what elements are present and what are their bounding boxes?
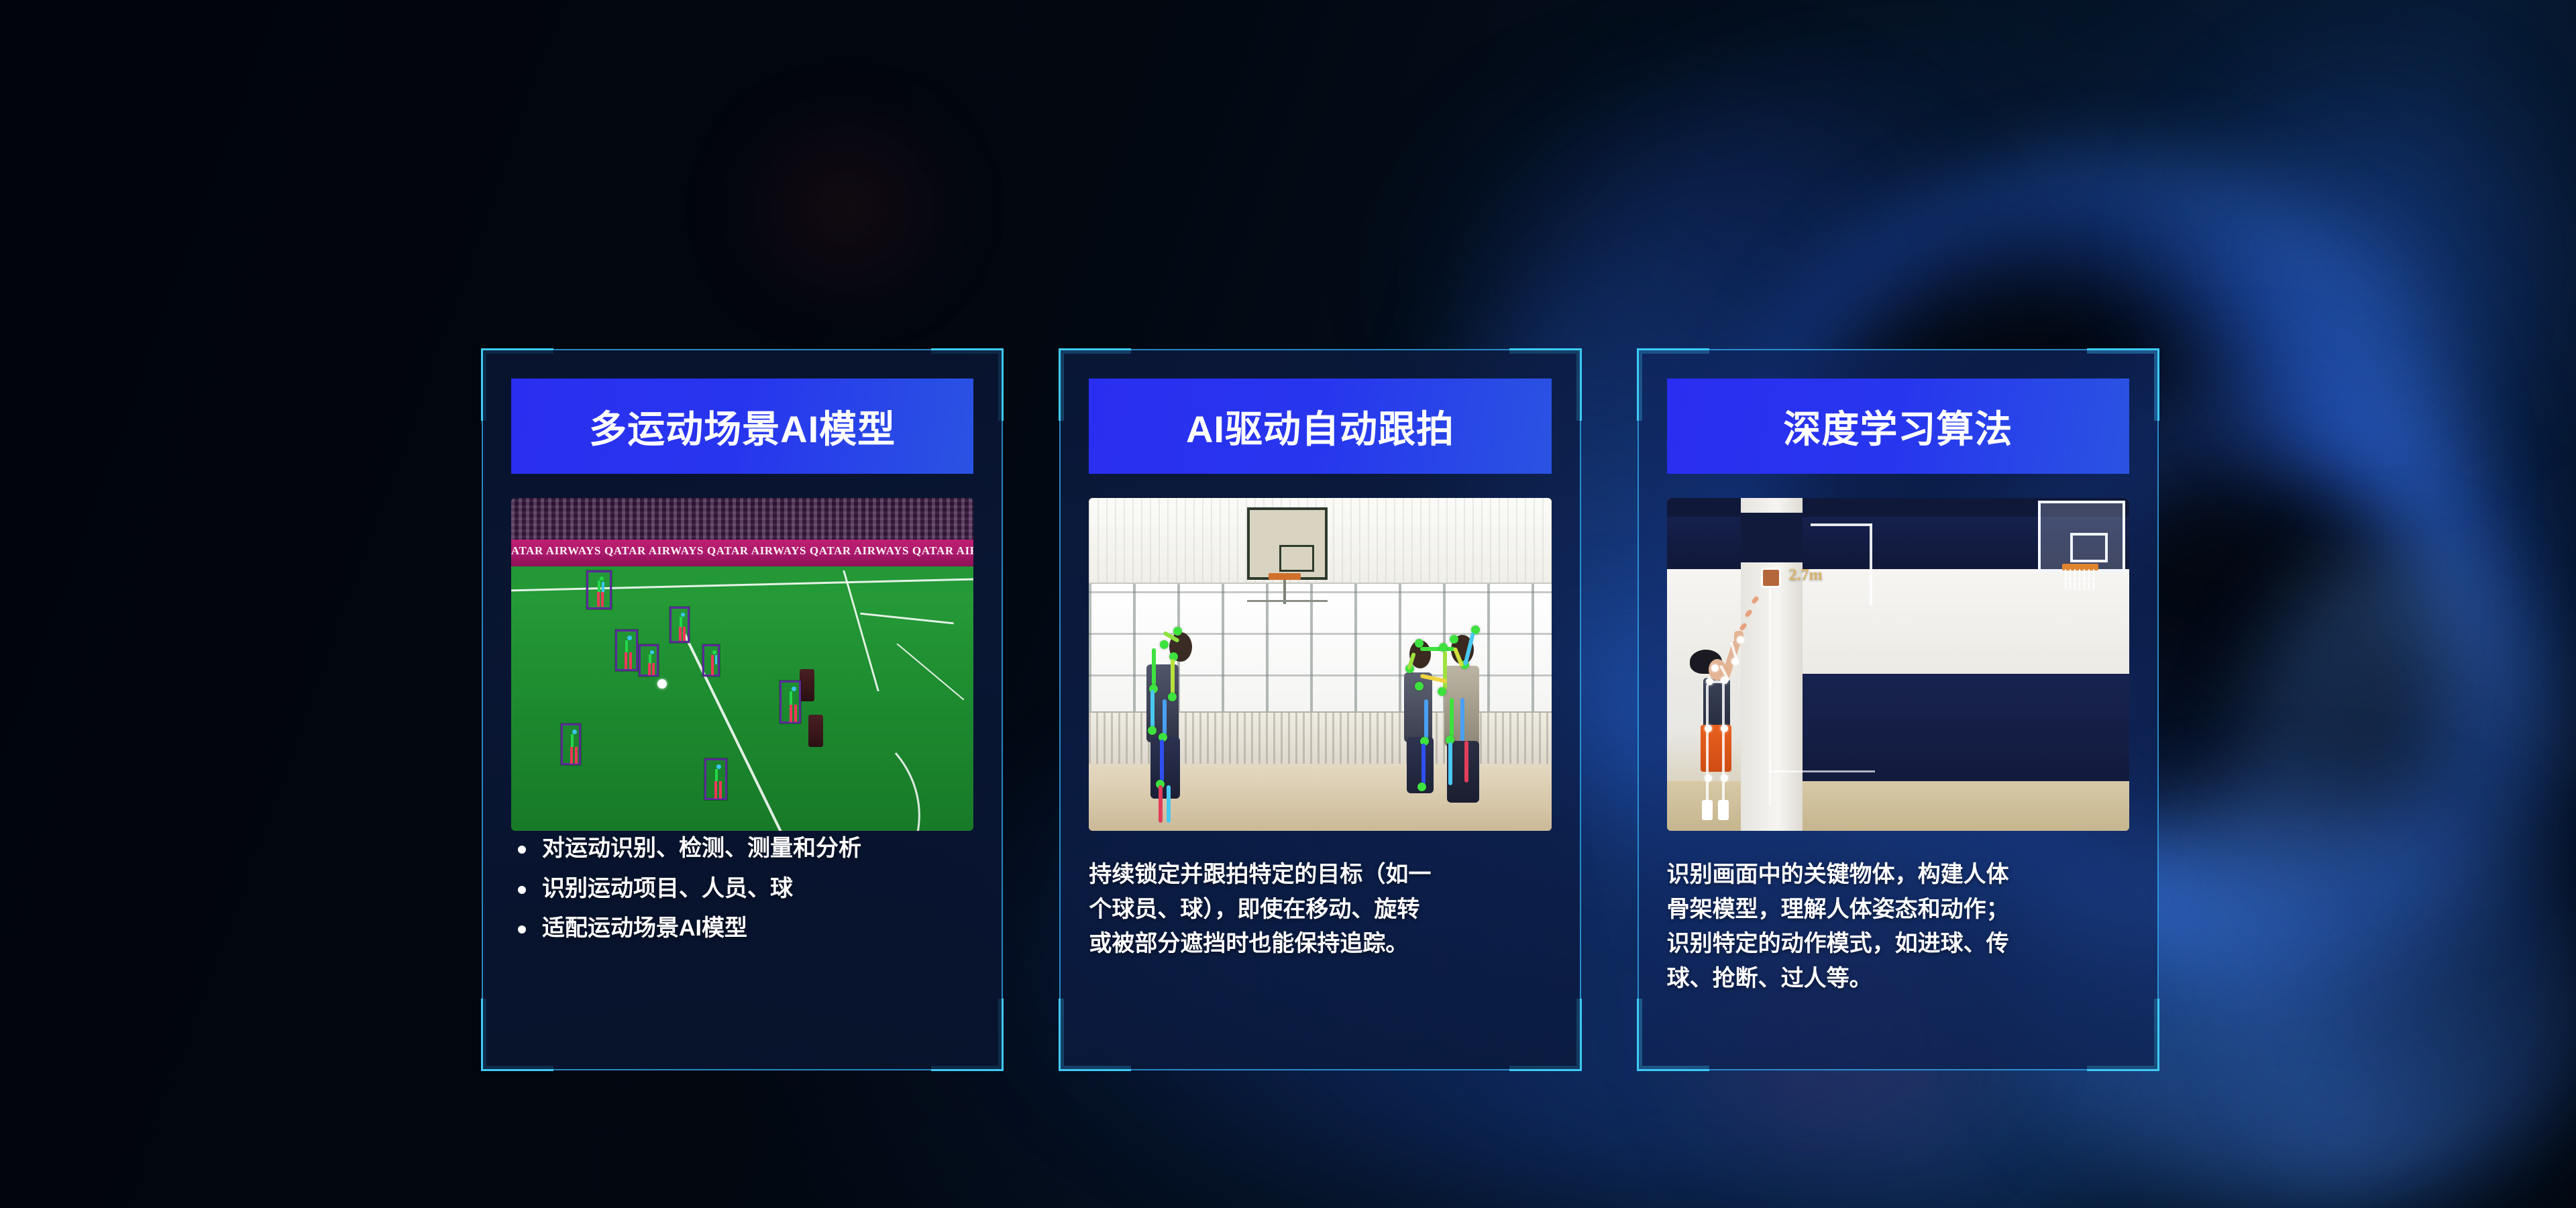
card-title-3: 深度学习算法	[1667, 379, 2129, 474]
card-edge-bottom	[1059, 1069, 1580, 1070]
list-item: 识别运动项目、人员、球	[511, 871, 973, 907]
feature-card-row: 多运动场景AI模型 QATAR AIRWAYS QATAR AIRWAYS QA…	[482, 349, 2159, 1070]
card-thumbnail-1: QATAR AIRWAYS QATAR AIRWAYS QATAR AIRWAY…	[511, 498, 973, 831]
player-bounding-box	[639, 644, 659, 676]
card-title-1: 多运动场景AI模型	[511, 379, 973, 474]
player-bounding-box	[586, 570, 612, 609]
card-title-2: AI驱动自动跟拍	[1089, 379, 1551, 474]
basketball-rim	[1269, 573, 1301, 580]
paragraph-line: 持续锁定并跟拍特定的目标（如一	[1089, 858, 1551, 893]
background-ribbon-rightedge	[2227, 550, 2576, 1208]
opponent-player-2	[808, 715, 823, 747]
card-edge-right	[2157, 349, 2159, 1070]
paragraph-line: 个球员、球），即使在移动、旋转	[1089, 893, 1551, 927]
card-inner-1: 多运动场景AI模型 QATAR AIRWAYS QATAR AIRWAYS QA…	[483, 350, 1002, 1069]
pose-skeleton-right	[1391, 612, 1525, 827]
feature-card-ai-auto-tracking[interactable]: AI驱动自动跟拍	[1059, 349, 1580, 1070]
card-description-2: 持续锁定并跟拍特定的目标（如一 个球员、球），即使在移动、旋转 或被部分遮挡时也…	[1089, 858, 1551, 962]
feature-card-multi-sport-model[interactable]: 多运动场景AI模型 QATAR AIRWAYS QATAR AIRWAYS QA…	[482, 349, 1003, 1070]
player-bounding-box	[615, 630, 638, 671]
player-bounding-box	[561, 723, 581, 765]
card-edge-bottom	[482, 1069, 1003, 1070]
paragraph-line: 识别特定的动作模式，如进球、传	[1667, 927, 2129, 962]
card-edge-right	[1002, 349, 1003, 1070]
card-thumbnail-2	[1089, 498, 1551, 831]
opponent-player-1	[800, 669, 814, 701]
card-description-3: 识别画面中的关键物体，构建人体 骨架模型，理解人体姿态和动作； 识别特定的动作模…	[1667, 858, 2129, 997]
paragraph-line: 骨架模型，理解人体姿态和动作；	[1667, 893, 2129, 927]
paragraph-line: 或被部分遮挡时也能保持追踪。	[1089, 927, 1551, 962]
slide-stage: 多运动场景AI模型 QATAR AIRWAYS QATAR AIRWAYS QA…	[0, 0, 2576, 1208]
paragraph-line: 球、抢断、过人等。	[1667, 962, 2129, 997]
card-edge-right	[1580, 349, 1581, 1070]
player-bounding-box	[704, 758, 727, 800]
background-glow-red	[704, 121, 986, 295]
player-bounding-box	[702, 644, 720, 676]
card-edge-bottom	[1638, 1069, 2159, 1070]
player-bounding-box	[669, 607, 690, 643]
paragraph-line: 识别画面中的关键物体，构建人体	[1667, 858, 2129, 893]
feature-card-deep-learning[interactable]: 深度学习算法	[1638, 349, 2159, 1070]
background-glow-topright	[2133, 27, 2576, 497]
card-thumbnail-3: 2.7m	[1667, 498, 2129, 831]
soccer-ball	[657, 679, 667, 689]
list-item: 适配运动场景AI模型	[511, 911, 973, 947]
feature-bullet-list-1: 对运动识别、检测、测量和分析 识别运动项目、人员、球 适配运动场景AI模型	[511, 831, 973, 947]
basketball-backboard	[1247, 507, 1328, 580]
led-advertising-board: QATAR AIRWAYS QATAR AIRWAYS QATAR AIRWAY…	[511, 540, 973, 566]
card-inner-3: 深度学习算法	[1639, 350, 2157, 1069]
player-bounding-box	[780, 681, 801, 723]
pose-skeleton-left	[1136, 625, 1230, 827]
card-inner-2: AI驱动自动跟拍	[1061, 350, 1579, 1069]
backboard-support	[1247, 600, 1328, 602]
led-board-text: QATAR AIRWAYS QATAR AIRWAYS QATAR AIRWAY…	[511, 544, 973, 558]
list-item: 对运动识别、检测、测量和分析	[511, 831, 973, 867]
pose-skeleton-3	[1667, 498, 2129, 831]
